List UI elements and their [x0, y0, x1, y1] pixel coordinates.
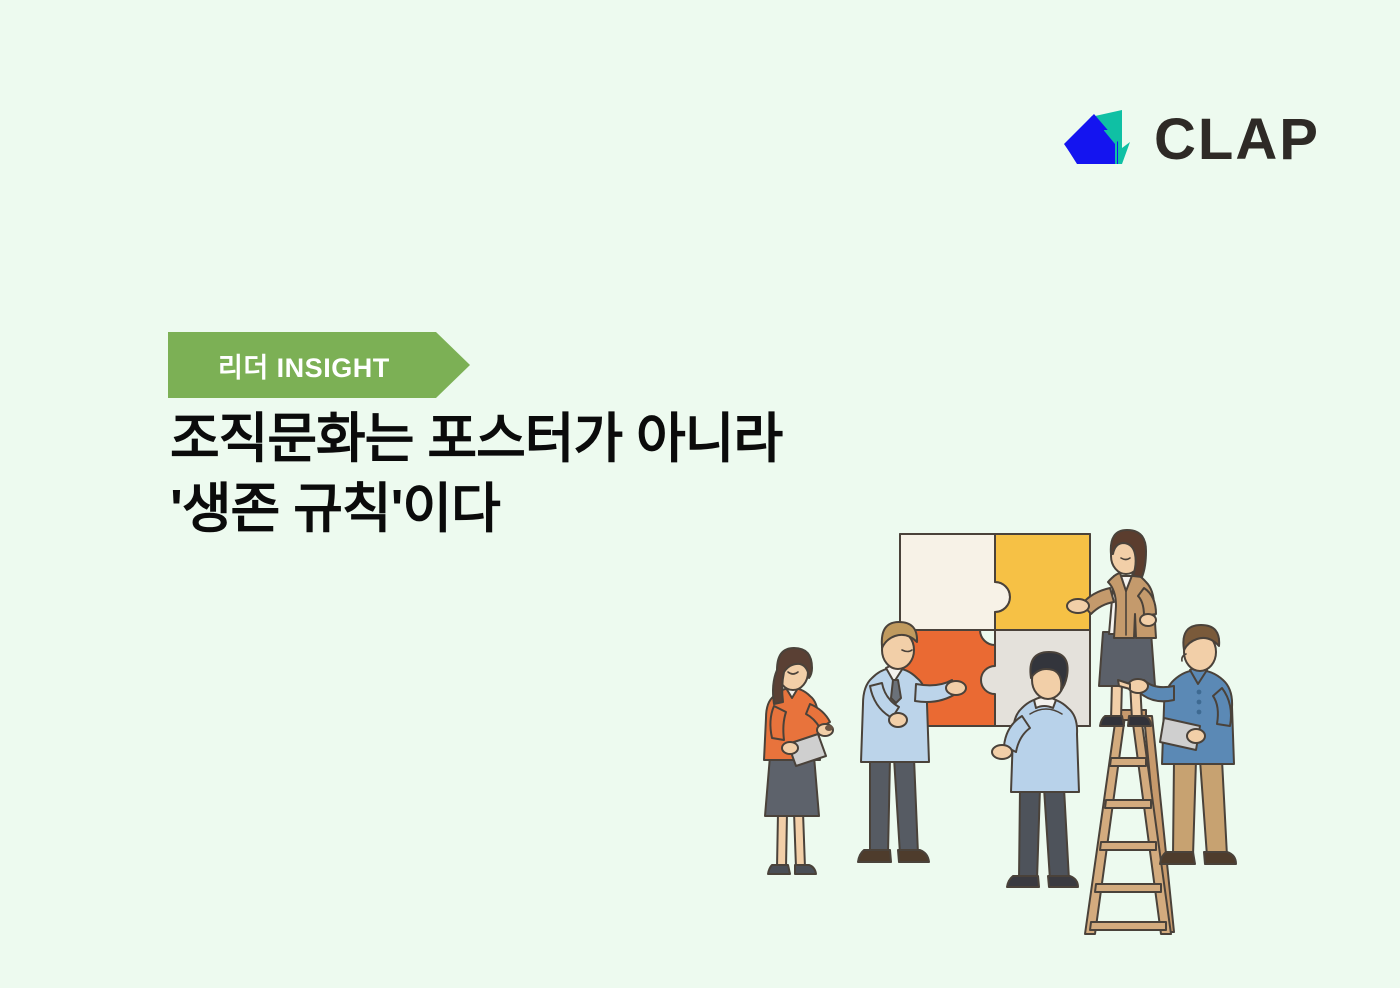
- headline-line-1: 조직문화는 포스터가 아니라: [170, 404, 1030, 474]
- badge-label: 리더 INSIGHT: [218, 332, 390, 398]
- eyebrow-badge: 리더 INSIGHT: [168, 332, 470, 398]
- brand-wordmark: CLAP: [1154, 111, 1320, 169]
- team-puzzle-illustration: .ol { stroke:#4a423a; stroke-width:2; st…: [740, 520, 1280, 940]
- step-ladder: [1079, 710, 1174, 934]
- person-woman-orange: [764, 648, 833, 874]
- clap-logo-mark-icon: [1062, 108, 1136, 172]
- illustration-svg: .ol { stroke:#4a423a; stroke-width:2; st…: [740, 520, 1280, 940]
- poster-canvas: CLAP 리더 INSIGHT 조직문화는 포스터가 아니라 '생존 규칙'이다…: [0, 0, 1400, 988]
- brand-logo[interactable]: CLAP: [1062, 108, 1320, 172]
